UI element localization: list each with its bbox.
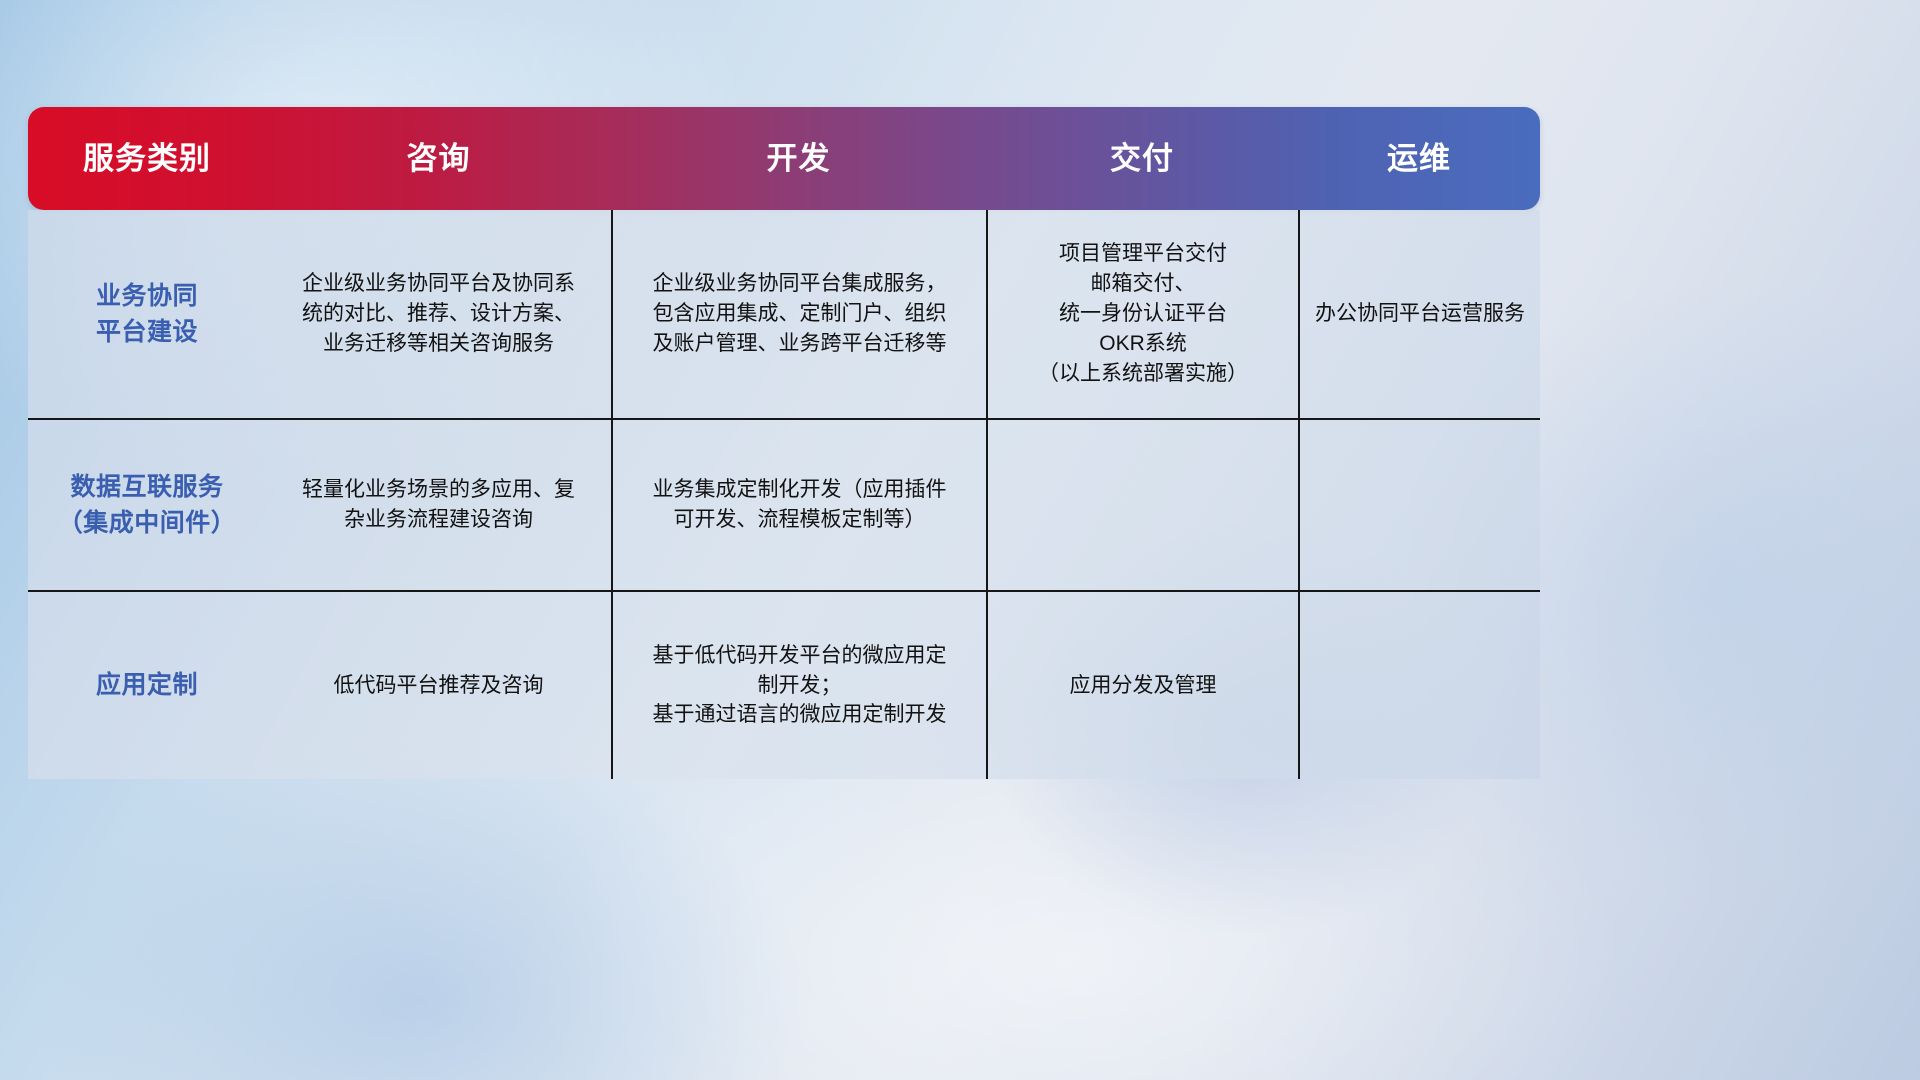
cell-consulting: 企业级业务协同平台及协同系 统的对比、推荐、设计方案、 业务迁移等相关咨询服务: [266, 210, 611, 418]
cell-operations: 办公协同平台运营服务: [1298, 210, 1540, 418]
column-header-development: 开发: [611, 143, 986, 174]
table-body: 业务协同 平台建设 企业级业务协同平台及协同系 统的对比、推荐、设计方案、 业务…: [28, 210, 1540, 779]
column-header-category: 服务类别: [28, 143, 266, 174]
table-row: 业务协同 平台建设 企业级业务协同平台及协同系 统的对比、推荐、设计方案、 业务…: [28, 210, 1540, 418]
cell-development: 基于低代码开发平台的微应用定 制开发； 基于通过语言的微应用定制开发: [611, 592, 986, 779]
cell-delivery: 项目管理平台交付 邮箱交付、 统一身份认证平台 OKR系统 （以上系统部署实施）: [986, 210, 1298, 418]
column-header-operations: 运维: [1298, 143, 1540, 174]
cell-operations: [1298, 420, 1540, 590]
cell-operations: [1298, 592, 1540, 779]
cell-delivery: [986, 420, 1298, 590]
table-row: 数据互联服务 （集成中间件） 轻量化业务场景的多应用、复 杂业务流程建设咨询 业…: [28, 418, 1540, 590]
cell-consulting: 轻量化业务场景的多应用、复 杂业务流程建设咨询: [266, 420, 611, 590]
column-header-delivery: 交付: [986, 143, 1298, 174]
table-header-row: 服务类别 咨询 开发 交付 运维: [28, 107, 1540, 210]
table-row: 应用定制 低代码平台推荐及咨询 基于低代码开发平台的微应用定 制开发； 基于通过…: [28, 590, 1540, 779]
column-header-consulting: 咨询: [266, 143, 611, 174]
row-category-label: 业务协同 平台建设: [28, 210, 266, 418]
cell-development: 企业级业务协同平台集成服务， 包含应用集成、定制门户、组织 及账户管理、业务跨平…: [611, 210, 986, 418]
row-category-label: 应用定制: [28, 592, 266, 779]
cell-delivery: 应用分发及管理: [986, 592, 1298, 779]
cell-consulting: 低代码平台推荐及咨询: [266, 592, 611, 779]
service-matrix-table: 服务类别 咨询 开发 交付 运维 业务协同 平台建设 企业级业务协同平台及协同系…: [28, 107, 1540, 779]
cell-development: 业务集成定制化开发（应用插件 可开发、流程模板定制等）: [611, 420, 986, 590]
background-glow-bottom-left: [40, 740, 800, 1080]
row-category-label: 数据互联服务 （集成中间件）: [28, 420, 266, 590]
